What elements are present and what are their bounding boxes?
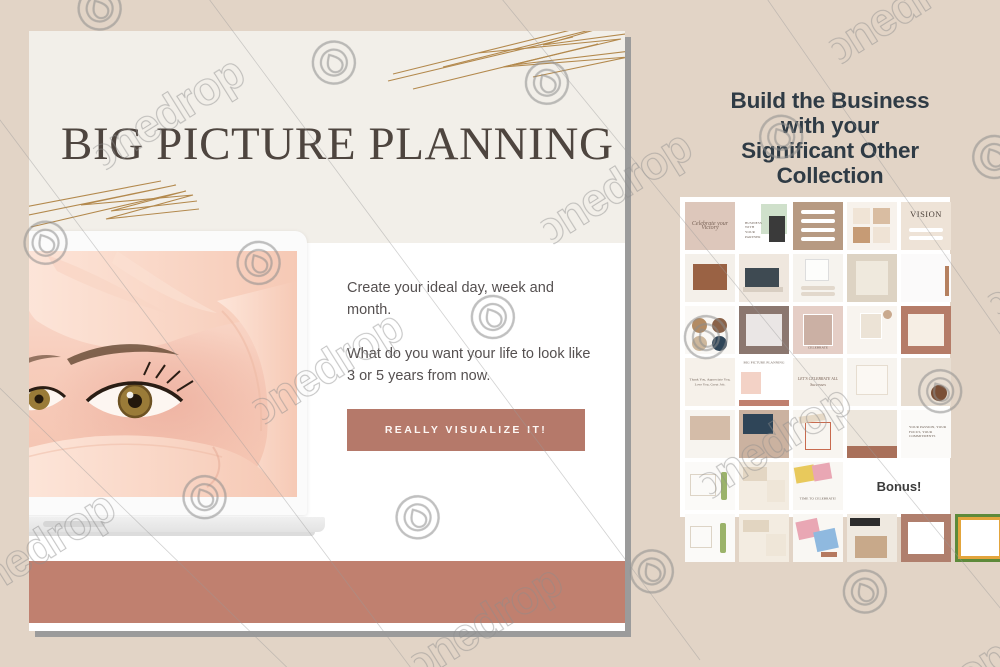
slide-title: BIG PICTURE PLANNING [61, 117, 614, 171]
gold-scribble-icon-2 [29, 179, 201, 239]
heading-line-1: Build the Business [660, 88, 1000, 113]
bonus-label-cell: Bonus! [847, 462, 951, 510]
thumbnail[interactable]: Thank You, Appreciate You, Love You, Gre… [685, 358, 735, 406]
thumbnail[interactable] [739, 514, 789, 562]
heading-line-4: Collection [660, 163, 1000, 188]
thumbnail[interactable] [793, 202, 843, 250]
thumbnail[interactable] [847, 410, 897, 458]
presentation-slide[interactable]: BIG PICTURE PLANNING [29, 31, 625, 631]
thumbnail[interactable] [901, 254, 951, 302]
thumbnail-label: VISION [901, 212, 951, 216]
thumbnail[interactable]: LET'S CELEBRATE ALL Successes [793, 358, 843, 406]
thumbnail[interactable]: BUSINESS WITH YOUR PARTNER [739, 202, 789, 250]
thumbnail[interactable]: TIME TO CELEBRATE! [793, 462, 843, 510]
slide-canvas: BIG PICTURE PLANNING [29, 31, 625, 631]
thumbnail[interactable] [847, 514, 897, 562]
thumbnail-label: LET'S CELEBRATE ALL Successes [793, 376, 843, 388]
eye-frame-photo [29, 251, 297, 497]
thumbnail[interactable] [793, 410, 843, 458]
thumbnail-label: Thank You, Appreciate You, Love You, Gre… [685, 377, 735, 386]
thumbnail-label: BIG PICTURE PLANNING [739, 361, 789, 366]
laptop-notch [43, 521, 105, 527]
thumbnail[interactable] [685, 462, 735, 510]
thumbnail[interactable] [685, 306, 735, 354]
laptop-foot [29, 532, 315, 536]
thumbnail[interactable] [739, 462, 789, 510]
thumbnail[interactable] [685, 410, 735, 458]
thumbnail-label: YOUR PASSION, YOUR FOCUS, YOUR COMMITMEN… [906, 425, 951, 439]
thumbnail-card [908, 522, 944, 554]
thumbnail[interactable] [955, 514, 1000, 562]
collection-panel: Build the Business with your Significant… [660, 0, 1000, 667]
thumbnail[interactable] [739, 254, 789, 302]
thumbnail[interactable] [685, 254, 735, 302]
laptop-screen-image [29, 251, 297, 497]
thumbnail-row [685, 254, 945, 302]
thumbnail-row: Thank You, Appreciate You, Love You, Gre… [685, 358, 945, 406]
cta-button[interactable]: REALLY VISUALIZE IT! [347, 409, 585, 451]
bonus-label: Bonus! [877, 479, 922, 494]
thumbnail-label: BUSINESS WITH YOUR PARTNER [742, 221, 767, 239]
thumbnail[interactable] [901, 514, 951, 562]
laptop-lid [29, 231, 307, 515]
thumbnail-row: CELEBRATE [685, 306, 945, 354]
slide-header: BIG PICTURE PLANNING [29, 31, 625, 243]
thumbnail[interactable] [739, 410, 789, 458]
thumbnail[interactable] [901, 358, 951, 406]
collection-heading: Build the Business with your Significant… [660, 88, 1000, 188]
heading-line-2: with your [660, 113, 1000, 138]
thumbnail-row: Celebrate your Victory BUSINESS WITH YOU… [685, 202, 945, 250]
thumbnail-card [746, 314, 782, 346]
thumbnail-row: TIME TO CELEBRATE! Bonus! [685, 462, 945, 510]
thumbnail[interactable] [847, 254, 897, 302]
thumbnail-card [961, 520, 999, 556]
thumbnail[interactable] [739, 306, 789, 354]
thumbnail-row: YOUR PASSION, YOUR FOCUS, YOUR COMMITMEN… [685, 410, 945, 458]
slide-footer-band [29, 561, 625, 623]
thumbnail-label: Celebrate your Victory [685, 222, 735, 230]
thumbnail[interactable]: BIG PICTURE PLANNING [739, 358, 789, 406]
thumbnail[interactable] [847, 202, 897, 250]
thumbnail-grid: Celebrate your Victory BUSINESS WITH YOU… [680, 197, 950, 517]
thumbnail[interactable] [847, 358, 897, 406]
thumbnail[interactable] [793, 254, 843, 302]
thumbnail[interactable] [847, 306, 897, 354]
thumbnail-card [908, 314, 944, 346]
thumbnail[interactable] [901, 306, 951, 354]
body-paragraph-1: Create your ideal day, week and month. [347, 277, 597, 321]
slide-copy-column: Create your ideal day, week and month. W… [347, 277, 597, 451]
thumbnail[interactable]: YOUR PASSION, YOUR FOCUS, YOUR COMMITMEN… [901, 410, 951, 458]
gold-scribble-icon [383, 31, 625, 114]
laptop-mockup [29, 231, 329, 551]
heading-line-3: Significant Other [660, 138, 1000, 163]
thumbnail[interactable]: Celebrate your Victory [685, 202, 735, 250]
thumbnail[interactable] [793, 514, 843, 562]
thumbnail-row [685, 514, 945, 562]
thumbnail[interactable]: VISION [901, 202, 951, 250]
thumbnail[interactable]: CELEBRATE [793, 306, 843, 354]
thumbnail-label: TIME TO CELEBRATE! [793, 497, 843, 502]
body-paragraph-2: What do you want your life to look like … [347, 343, 597, 387]
thumbnail[interactable] [685, 514, 735, 562]
thumbnail-label: CELEBRATE [793, 346, 843, 351]
